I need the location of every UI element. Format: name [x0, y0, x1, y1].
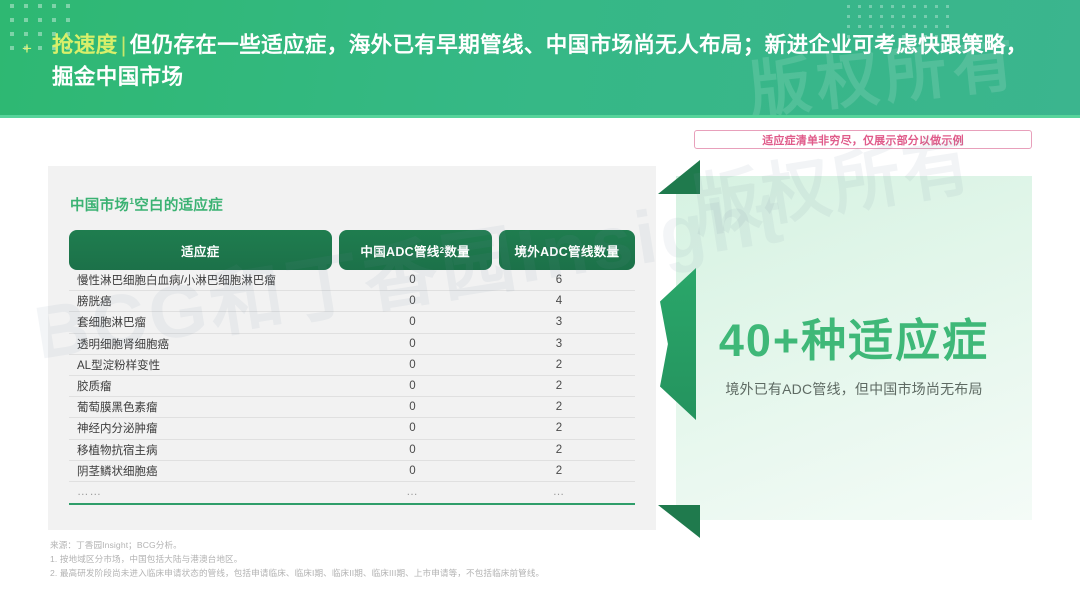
table-row: AL型淀粉样变性02 [69, 355, 635, 376]
left-panel-title-main: 中国市场 [70, 198, 129, 214]
cell-indication: 阴茎鳞状细胞癌 [69, 463, 335, 479]
cell-china-count: 0 [335, 422, 490, 434]
cell-china-count: 0 [335, 316, 490, 328]
table-row: ………… [69, 482, 635, 503]
table-row: 阴茎鳞状细胞癌02 [69, 461, 635, 482]
cell-indication: 膀胱癌 [69, 293, 335, 309]
cell-indication: 透明细胞肾细胞癌 [69, 336, 335, 352]
cell-china-count: 0 [335, 401, 490, 413]
cell-overseas-count: 3 [490, 338, 628, 350]
title-divider: | [118, 33, 130, 57]
cell-china-count: 0 [335, 338, 490, 350]
footnote-2: 2. 最高研发阶段尚未进入临床申请状态的管线，包括申请临床、临床I期、临床II期… [50, 567, 1010, 581]
note-badge-label: 适应症清单非穷尽，仅展示部分以做示例 [762, 132, 964, 148]
cell-china-count: 0 [335, 274, 490, 286]
cell-china-count: 0 [335, 380, 490, 392]
table-row: 慢性淋巴细胞白血病/小淋巴细胞淋巴瘤06 [69, 270, 635, 291]
table-body: 慢性淋巴细胞白血病/小淋巴细胞淋巴瘤06膀胱癌04套细胞淋巴瘤03透明细胞肾细胞… [69, 270, 635, 503]
cell-overseas-count: 2 [490, 444, 628, 456]
cell-china-count: 0 [335, 465, 490, 477]
left-panel-title: 中国市场1空白的适应症 [70, 194, 223, 215]
note-badge: 适应症清单非穷尽，仅展示部分以做示例 [694, 130, 1032, 149]
cell-indication: 神经内分泌肿瘤 [69, 420, 335, 436]
cell-overseas-count: 2 [490, 401, 628, 413]
table-row: 膀胱癌04 [69, 291, 635, 312]
left-panel: 中国市场1空白的适应症 适应症 中国ADC管线2数量 境外ADC管线数量 慢性淋… [48, 166, 656, 530]
cell-indication: 胶质瘤 [69, 378, 335, 394]
footnote-1: 1. 按地域区分市场，中国包括大陆与港澳台地区。 [50, 553, 1010, 567]
right-panel: 40+种适应症 境外已有ADC管线，但中国市场尚无布局 [676, 176, 1032, 520]
cell-indication: 套细胞淋巴瘤 [69, 314, 335, 330]
cell-overseas-count: 2 [490, 359, 628, 371]
table-row: 神经内分泌肿瘤02 [69, 418, 635, 439]
cell-indication: AL型淀粉样变性 [69, 357, 335, 373]
cell-overseas-count: 2 [490, 380, 628, 392]
cell-overseas-count: 2 [490, 465, 628, 477]
header-banner: 版权所有 + 抢速度|但仍存在一些适应症，海外已有早期管线、中国市场尚无人布局；… [0, 0, 1080, 118]
table-row: 葡萄膜黑色素瘤02 [69, 397, 635, 418]
table-header-row: 适应症 中国ADC管线2数量 境外ADC管线数量 [69, 230, 635, 270]
cell-overseas-count: 3 [490, 316, 628, 328]
title-main-text: 但仍存在一些适应症，海外已有早期管线、中国市场尚无人布局；新进企业可考虑快跟策略… [52, 33, 1028, 89]
table-bottom-rule [69, 503, 635, 505]
footnote-source: 来源：丁香园Insight；BCG分析。 [50, 539, 1010, 553]
table-row: 套细胞淋巴瘤03 [69, 312, 635, 333]
cell-indication: 移植物抗宿主病 [69, 442, 335, 458]
cell-indication: 葡萄膜黑色素瘤 [69, 399, 335, 415]
cell-overseas-count: 2 [490, 422, 628, 434]
plus-icon: + [22, 40, 32, 57]
cell-overseas-count: … [490, 486, 628, 498]
footnotes: 来源：丁香园Insight；BCG分析。 1. 按地域区分市场，中国包括大陆与港… [50, 539, 1010, 581]
indications-table: 适应症 中国ADC管线2数量 境外ADC管线数量 慢性淋巴细胞白血病/小淋巴细胞… [69, 230, 635, 505]
cell-china-count: 0 [335, 359, 490, 371]
table-row: 胶质瘤02 [69, 376, 635, 397]
highlight-headline: 40+种适应症 [676, 318, 1032, 363]
ribbon-decoration-bottom [658, 505, 700, 538]
table-header-overseas-pipelines: 境外ADC管线数量 [499, 230, 635, 270]
table-header-china-main: 中国ADC管线 [360, 241, 439, 260]
cell-china-count: 0 [335, 444, 490, 456]
cell-overseas-count: 4 [490, 295, 628, 307]
cell-overseas-count: 6 [490, 274, 628, 286]
ribbon-decoration-middle [660, 268, 696, 420]
ribbon-decoration-top [658, 160, 700, 194]
cell-china-count: … [335, 486, 490, 498]
header-underline [0, 115, 1080, 118]
table-header-china-pipelines: 中国ADC管线2数量 [339, 230, 492, 270]
cell-indication: 慢性淋巴细胞白血病/小淋巴细胞淋巴瘤 [69, 272, 335, 288]
left-panel-title-rest: 空白的适应症 [134, 198, 223, 214]
page-title: 抢速度|但仍存在一些适应症，海外已有早期管线、中国市场尚无人布局；新进企业可考虑… [52, 30, 1042, 94]
highlight-subtitle: 境外已有ADC管线，但中国市场尚无布局 [676, 379, 1032, 399]
table-header-indication: 适应症 [69, 230, 332, 270]
table-row: 透明细胞肾细胞癌03 [69, 334, 635, 355]
cell-china-count: 0 [335, 295, 490, 307]
table-row: 移植物抗宿主病02 [69, 440, 635, 461]
title-accent-label: 抢速度 [52, 33, 118, 57]
cell-indication: …… [69, 486, 335, 498]
table-header-china-tail: 数量 [444, 241, 470, 260]
